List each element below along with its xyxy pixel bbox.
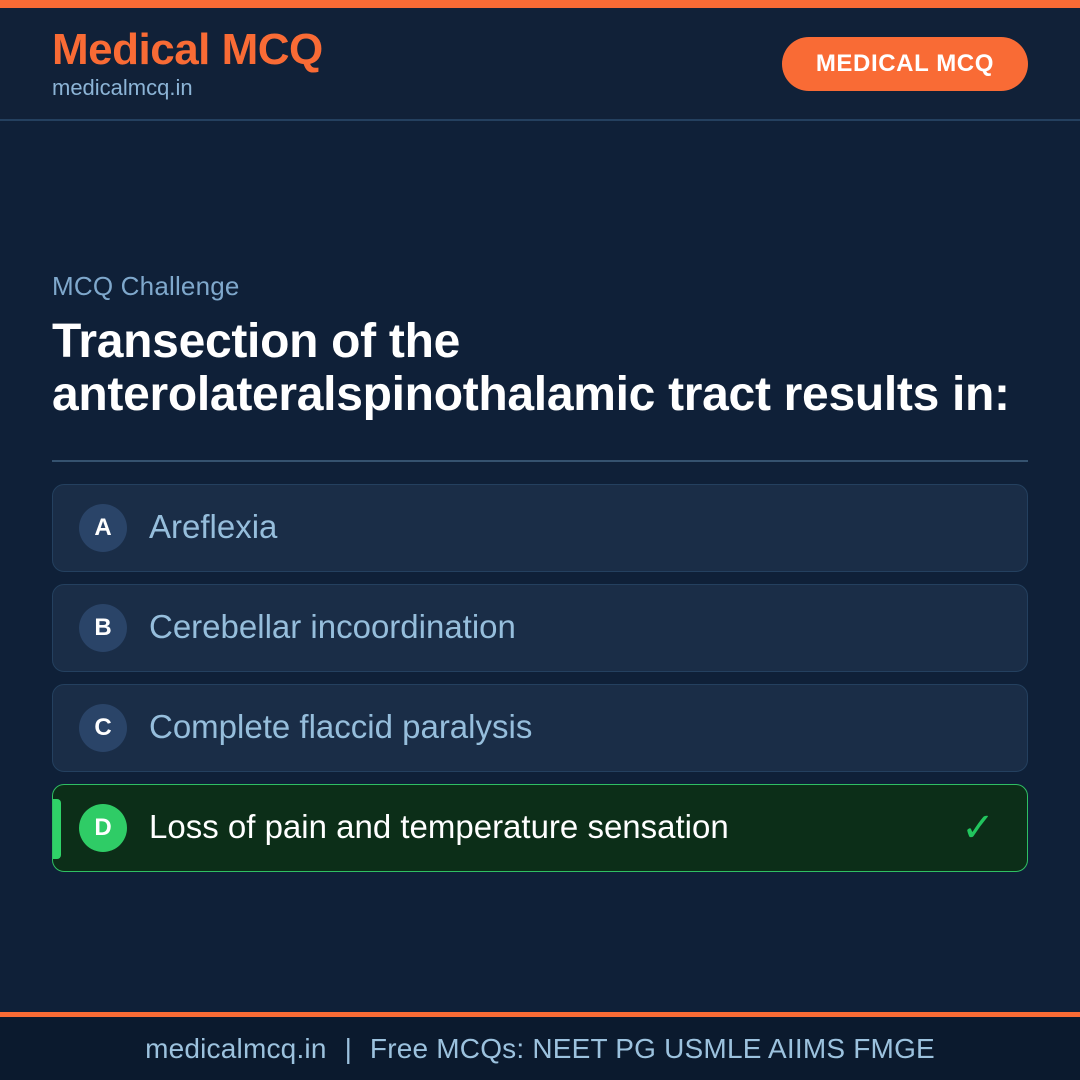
brand-subtitle: medicalmcq.in — [52, 76, 323, 100]
option-label: Areflexia — [149, 509, 955, 545]
option-letter-badge: A — [79, 504, 127, 552]
question-divider — [52, 460, 1028, 462]
options-list: AAreflexiaBCerebellar incoordinationCCom… — [52, 484, 1028, 872]
question-text: Transection of the anterolateralspinotha… — [52, 316, 1012, 422]
option-label: Cerebellar incoordination — [149, 609, 955, 645]
mcq-card-page: Medical MCQ medicalmcq.in MEDICAL MCQ MC… — [0, 0, 1080, 1080]
option-letter-badge: B — [79, 604, 127, 652]
footer-exams: Free MCQs: NEET PG USMLE AIIMS FMGE — [370, 1033, 935, 1065]
option-a[interactable]: AAreflexia — [52, 484, 1028, 572]
option-b[interactable]: BCerebellar incoordination — [52, 584, 1028, 672]
footer-site: medicalmcq.in — [145, 1033, 327, 1065]
brand-title: Medical MCQ — [52, 27, 323, 73]
page-footer: medicalmcq.in | Free MCQs: NEET PG USMLE… — [0, 1017, 1080, 1080]
checkmark-icon: ✓ — [955, 808, 1001, 848]
option-letter-badge: D — [79, 804, 127, 852]
header-badge: MEDICAL MCQ — [782, 37, 1028, 91]
brand-block: Medical MCQ medicalmcq.in — [52, 27, 323, 101]
option-label: Complete flaccid paralysis — [149, 709, 955, 745]
question-block: MCQ Challenge Transection of the anterol… — [52, 271, 1028, 422]
option-letter-badge: C — [79, 704, 127, 752]
option-d[interactable]: DLoss of pain and temperature sensation✓ — [52, 784, 1028, 872]
correct-accent-bar — [53, 799, 61, 859]
main-content: MCQ Challenge Transection of the anterol… — [0, 121, 1080, 1012]
top-accent-bar — [0, 0, 1080, 8]
footer-separator: | — [327, 1033, 370, 1065]
page-header: Medical MCQ medicalmcq.in MEDICAL MCQ — [0, 8, 1080, 121]
option-label: Loss of pain and temperature sensation — [149, 809, 955, 845]
question-kicker: MCQ Challenge — [52, 271, 1028, 302]
option-c[interactable]: CComplete flaccid paralysis — [52, 684, 1028, 772]
